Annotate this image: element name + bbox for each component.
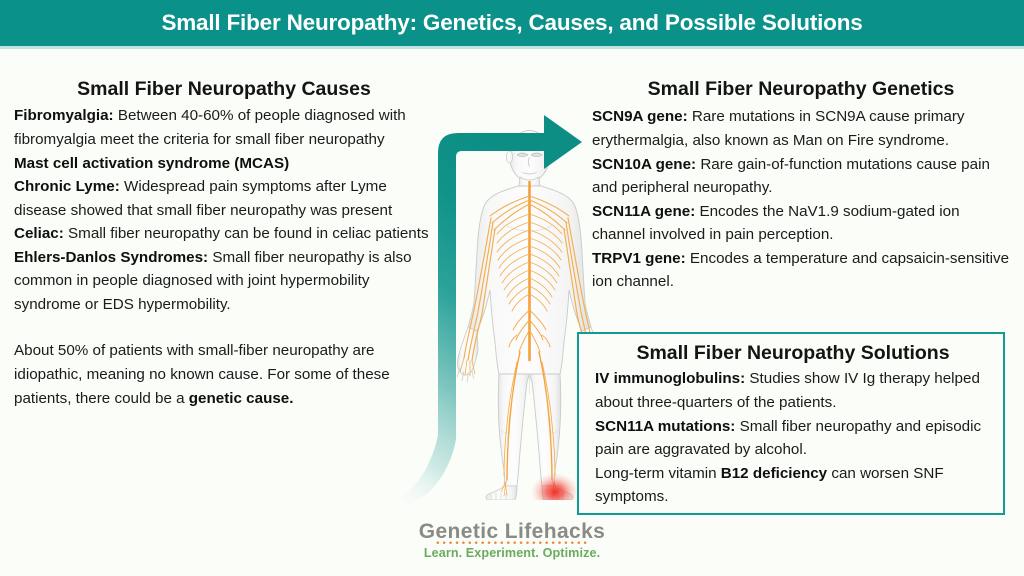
solution-term: SCN11A mutations: bbox=[595, 418, 735, 435]
cause-term: Fibromyalgia: bbox=[14, 107, 114, 124]
closing-bold: genetic cause. bbox=[189, 390, 294, 407]
paragraph-spacer bbox=[14, 316, 434, 339]
header-underline bbox=[0, 46, 1024, 49]
pain-glow-indicator bbox=[531, 473, 579, 500]
causes-heading: Small Fiber Neuropathy Causes bbox=[14, 78, 434, 100]
genetics-column: Small Fiber Neuropathy Genetics SCN9A ge… bbox=[592, 78, 1010, 294]
brand-logo: Genetic Lifehacks ••••••••••••••••••••••… bbox=[0, 521, 1024, 561]
gene-item-trpv1: TRPV1 gene: Encodes a temperature and ca… bbox=[592, 247, 1010, 294]
causes-column: Small Fiber Neuropathy Causes Fibromyalg… bbox=[14, 78, 434, 410]
page-title: Small Fiber Neuropathy: Genetics, Causes… bbox=[161, 10, 862, 36]
gene-term: SCN9A gene: bbox=[592, 108, 688, 125]
logo-tagline: Learn. Experiment. Optimize. bbox=[0, 547, 1024, 561]
cause-term: Chronic Lyme: bbox=[14, 178, 120, 195]
header-bar: Small Fiber Neuropathy: Genetics, Causes… bbox=[0, 0, 1024, 46]
gene-item-scn11a: SCN11A gene: Encodes the NaV1.9 sodium-g… bbox=[592, 200, 1010, 247]
cause-item-fibromyalgia: Fibromyalgia: Between 40-60% of people d… bbox=[14, 104, 434, 151]
infographic-canvas: Small Fiber Neuropathy: Genetics, Causes… bbox=[0, 0, 1024, 576]
solution-item-scn11a-mutations: SCN11A mutations: Small fiber neuropathy… bbox=[595, 415, 991, 462]
solution-item-b12-deficiency: Long-term vitamin B12 deficiency can wor… bbox=[595, 462, 991, 509]
gene-item-scn9a: SCN9A gene: Rare mutations in SCN9A caus… bbox=[592, 105, 1010, 152]
solution-prefix: Long-term vitamin bbox=[595, 465, 721, 482]
cause-term: Ehlers-Danlos Syndromes: bbox=[14, 249, 208, 266]
solutions-box: Small Fiber Neuropathy Solutions IV immu… bbox=[577, 332, 1005, 515]
causes-closing-paragraph: About 50% of patients with small-fiber n… bbox=[14, 339, 434, 410]
genetics-body: SCN9A gene: Rare mutations in SCN9A caus… bbox=[592, 105, 1010, 294]
cause-term: Mast cell activation syndrome (MCAS) bbox=[14, 155, 289, 172]
cause-item-mcas: Mast cell activation syndrome (MCAS) bbox=[14, 152, 434, 176]
cause-item-celiac: Celiac: Small fiber neuropathy can be fo… bbox=[14, 222, 434, 246]
solutions-body: IV immunoglobulins: Studies show IV Ig t… bbox=[595, 367, 991, 508]
causes-body: Fibromyalgia: Between 40-60% of people d… bbox=[14, 104, 434, 410]
cause-term: Celiac: bbox=[14, 225, 64, 242]
gene-item-scn10a: SCN10A gene: Rare gain-of-function mutat… bbox=[592, 153, 1010, 200]
genetics-heading: Small Fiber Neuropathy Genetics bbox=[592, 78, 1010, 100]
cause-text: Small fiber neuropathy can be found in c… bbox=[64, 225, 429, 242]
solution-term: IV immunoglobulins: bbox=[595, 370, 745, 387]
solution-item-iv-immunoglobulins: IV immunoglobulins: Studies show IV Ig t… bbox=[595, 367, 991, 414]
cause-item-ehlers-danlos: Ehlers-Danlos Syndromes: Small fiber neu… bbox=[14, 246, 434, 317]
cause-item-chronic-lyme: Chronic Lyme: Widespread pain symptoms a… bbox=[14, 175, 434, 222]
solutions-heading: Small Fiber Neuropathy Solutions bbox=[595, 342, 991, 364]
solution-bold: B12 deficiency bbox=[721, 465, 827, 482]
